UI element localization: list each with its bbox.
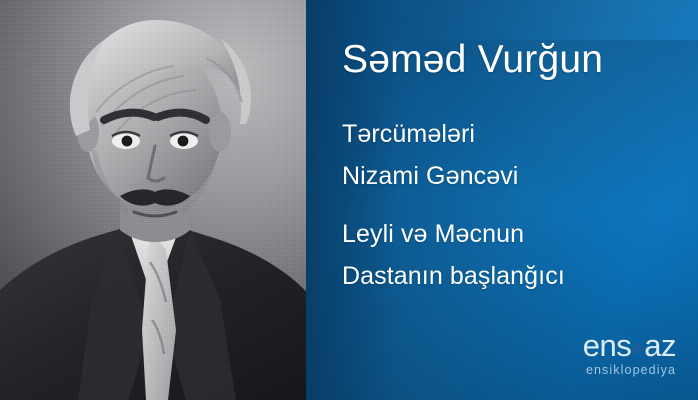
banner-card: Səməd Vurğun Tərcümələri Nizami Gəncəvi … <box>0 0 698 400</box>
work-title-line-1: Leyli və Məcnun <box>342 213 565 255</box>
logo-subtitle: ensiklopediya <box>583 364 676 377</box>
logo-tld: az <box>644 328 676 363</box>
photo-grain-overlay <box>0 0 306 400</box>
portrait-photo <box>0 0 306 400</box>
work-reference-block: Tərcümələri Nizami Gəncəvi <box>342 113 518 197</box>
page-title: Səməd Vurğun <box>342 38 603 82</box>
logo-wordmark: ensaz <box>583 330 676 361</box>
work-reference-line-1: Tərcümələri <box>342 113 518 155</box>
work-title-block: Leyli və Məcnun Dastanın başlanğıcı <box>342 213 565 297</box>
work-title-line-2: Dastanın başlanğıcı <box>342 255 565 297</box>
logo-dot-icon <box>632 344 642 354</box>
logo-name: ens <box>583 328 631 363</box>
info-panel: Səməd Vurğun Tərcümələri Nizami Gəncəvi … <box>306 0 698 400</box>
work-reference-line-2: Nizami Gəncəvi <box>342 155 518 197</box>
ens-az-logo[interactable]: ensaz ensiklopediya <box>583 330 676 377</box>
